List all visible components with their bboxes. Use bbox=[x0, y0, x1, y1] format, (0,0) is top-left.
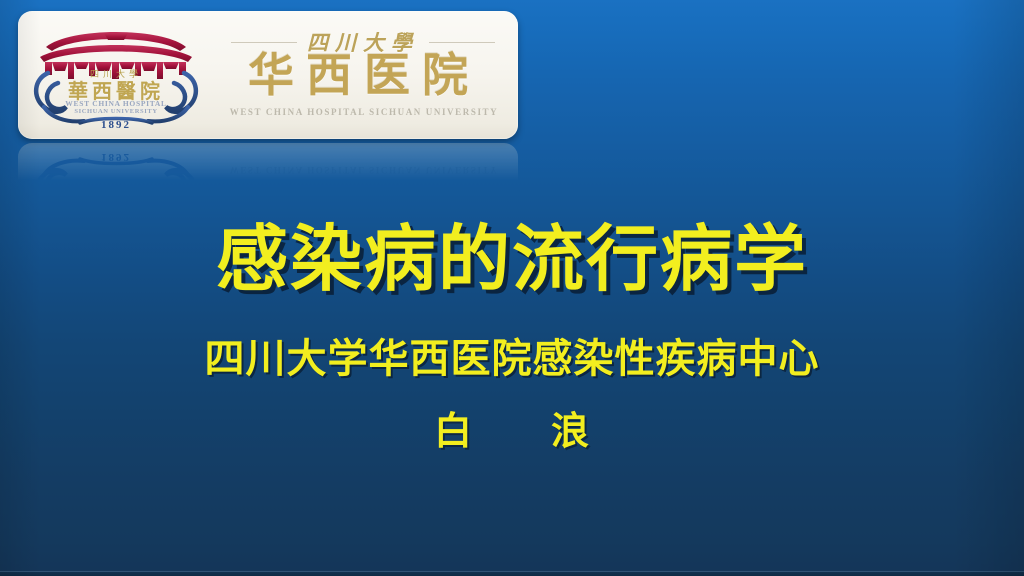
bottom-band bbox=[0, 572, 1024, 576]
emblem-english-line-2: SICHUAN UNIVERSITY bbox=[18, 108, 214, 115]
logo-reflection-year: 1892 bbox=[18, 151, 214, 163]
slide-author: 白 浪 bbox=[0, 407, 1024, 455]
wordmark-english-name: WEST CHINA HOSPITAL SICHUAN UNIVERSITY bbox=[214, 107, 514, 117]
presentation-title-slide: 四川大學 華西醫院 WEST CHINA HOSPITAL SICHUAN UN… bbox=[0, 0, 1024, 576]
emblem-english-line-1: WEST CHINA HOSPITAL bbox=[18, 99, 214, 108]
logo-reflection-wordmark: WEST CHINA HOSPITAL SICHUAN UNIVERSITY bbox=[214, 145, 518, 187]
logo-reflection-emblem-icon: 1892 bbox=[18, 145, 214, 187]
logo-reflection-english-name: WEST CHINA HOSPITAL SICHUAN UNIVERSITY bbox=[214, 165, 514, 175]
slide-title: 感染病的流行病学 bbox=[0, 218, 1024, 300]
hospital-wordmark: 四川大學 华西医院 WEST CHINA HOSPITAL SICHUAN UN… bbox=[214, 13, 518, 137]
logo-card: 四川大學 華西醫院 WEST CHINA HOSPITAL SICHUAN UN… bbox=[18, 11, 518, 139]
logo-reflection: 1892 WEST CHINA HOSPITAL SICHUAN UNIVERS… bbox=[18, 143, 518, 187]
wordmark-hospital-name: 华西医院 bbox=[214, 53, 514, 99]
emblem-founded-year: 1892 bbox=[18, 119, 214, 131]
slide-subtitle: 四川大学华西医院感染性疾病中心 bbox=[0, 334, 1024, 384]
wordmark-rule-right bbox=[429, 42, 495, 43]
west-china-hospital-emblem-icon: 四川大學 華西醫院 WEST CHINA HOSPITAL SICHUAN UN… bbox=[18, 13, 214, 137]
hospital-logo: 四川大學 華西醫院 WEST CHINA HOSPITAL SICHUAN UN… bbox=[18, 11, 518, 139]
wordmark-rule-left bbox=[231, 42, 297, 43]
